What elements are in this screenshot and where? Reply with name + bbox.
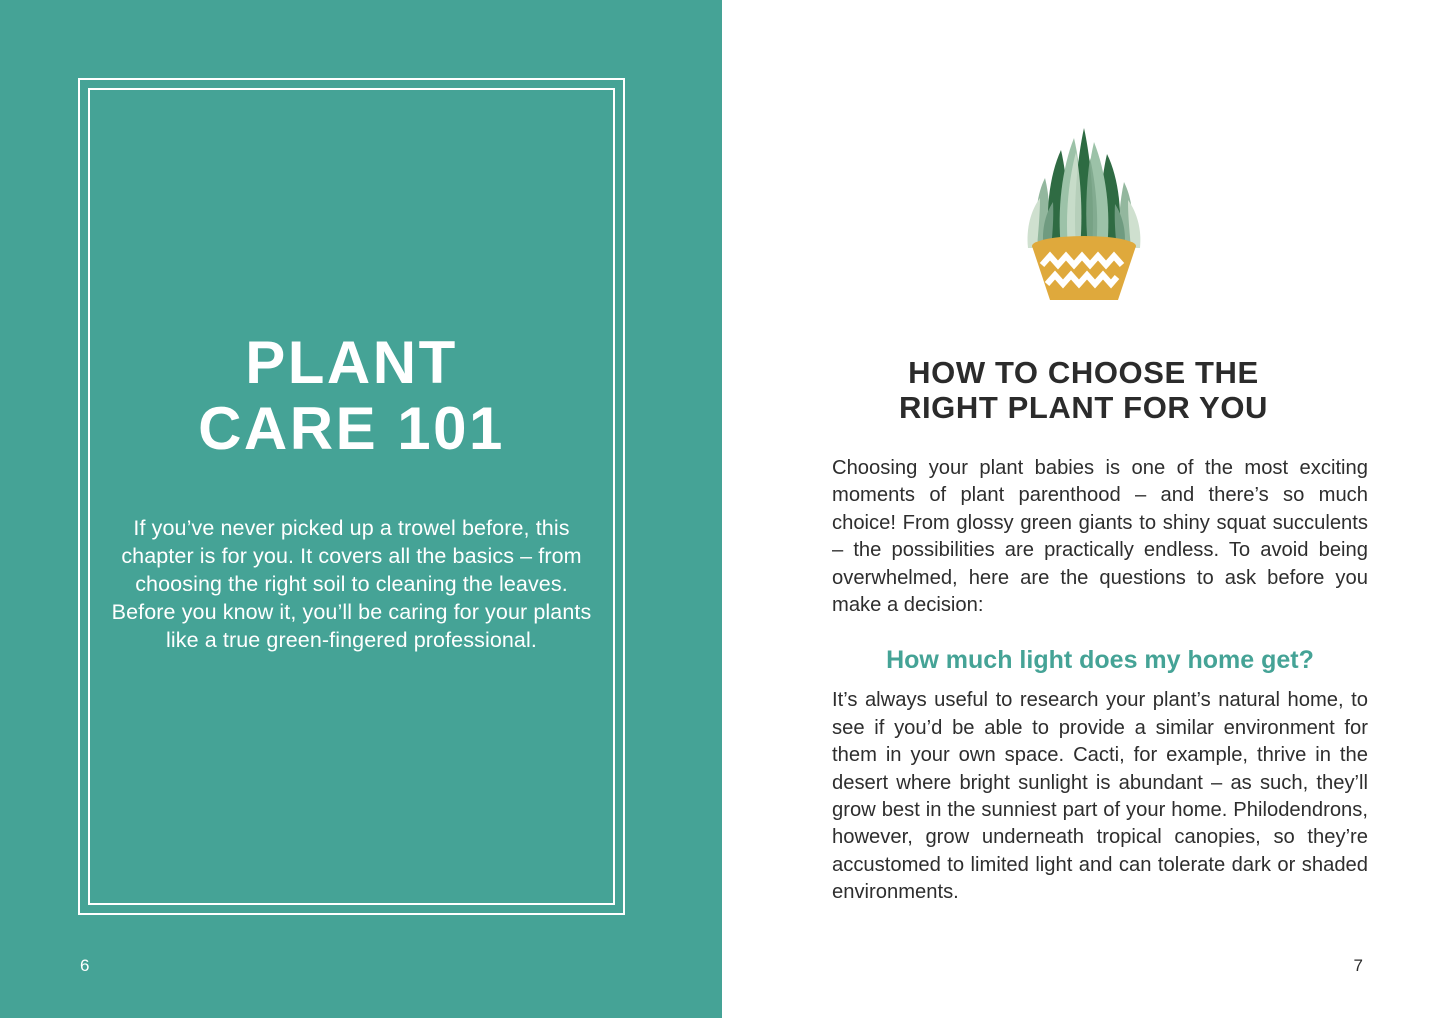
sub-heading-light-question: How much light does my home get? — [832, 645, 1368, 675]
potted-snake-plant-icon — [1004, 98, 1164, 308]
light-answer-paragraph: It’s always useful to research your plan… — [832, 687, 1368, 906]
intro-paragraph: Choosing your plant babies is one of the… — [832, 455, 1368, 619]
page-number-left: 6 — [80, 956, 89, 976]
chapter-intro-paragraph: If you’ve never picked up a trowel befor… — [110, 514, 593, 654]
chapter-title: PLANT CARE 101 — [110, 330, 593, 462]
right-page-content: HOW TO CHOOSE THE RIGHT PLANT FOR YOU Ch… — [722, 0, 1445, 1018]
page-number-right: 7 — [1354, 956, 1363, 976]
body-text-column: Choosing your plant babies is one of the… — [832, 455, 1368, 907]
section-heading: HOW TO CHOOSE THE RIGHT PLANT FOR YOU — [804, 355, 1364, 425]
left-page-chapter-opener: PLANT CARE 101 If you’ve never picked up… — [0, 0, 722, 1018]
plant-leaves-group — [1027, 128, 1140, 250]
chapter-text-block: PLANT CARE 101 If you’ve never picked up… — [110, 330, 593, 654]
book-spread: PLANT CARE 101 If you’ve never picked up… — [0, 0, 1445, 1018]
